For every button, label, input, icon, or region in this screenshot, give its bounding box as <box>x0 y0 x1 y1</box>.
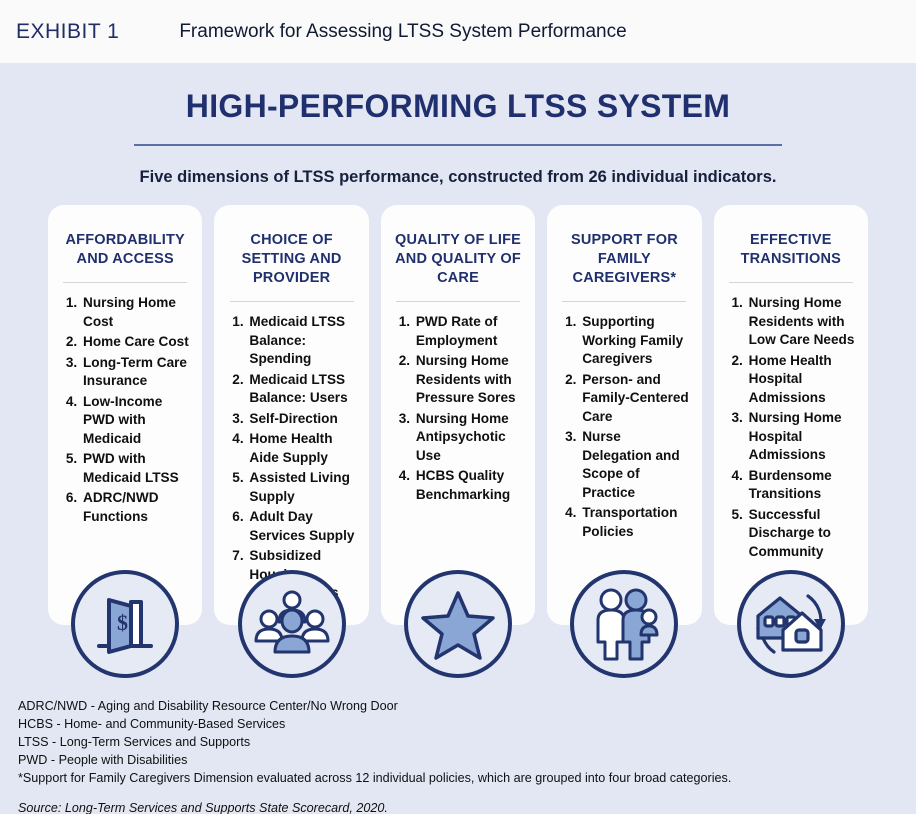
dimension-card-affordability-and-access: AFFORDABILITY AND ACCESS Nursing Home Co… <box>48 205 202 625</box>
door-with-dollar-sign-icon: $ <box>71 570 179 678</box>
list-item: Medicaid LTSS Balance: Spending <box>247 313 356 368</box>
card-title: QUALITY OF LIFE AND QUALITY OF CARE <box>393 231 523 288</box>
list-item: PWD Rate of Employment <box>414 313 523 350</box>
list-item: Self-Direction <box>247 410 356 428</box>
exhibit-label: EXHIBIT 1 <box>16 20 119 44</box>
icon-slot <box>214 570 368 678</box>
indicator-list: PWD Rate of Employment Nursing Home Resi… <box>393 313 523 504</box>
list-item: Low-Income PWD with Medicaid <box>81 393 190 448</box>
list-item: Home Health Hospital Admissions <box>747 352 856 407</box>
svg-text:$: $ <box>117 610 128 635</box>
exhibit-header: EXHIBIT 1 Framework for Assessing LTSS S… <box>0 0 916 63</box>
list-item: Nursing Home Residents with Low Care Nee… <box>747 294 856 349</box>
footnote-line: *Support for Family Caregivers Dimension… <box>18 770 888 788</box>
dimension-card-effective-transitions: EFFECTIVE TRANSITIONS Nursing Home Resid… <box>714 205 868 625</box>
house-transition-arrows-icon <box>737 570 845 678</box>
list-item: Adult Day Services Supply <box>247 508 356 545</box>
list-item: Transportation Policies <box>580 504 689 541</box>
dimension-icons: $ <box>48 570 868 678</box>
group-of-people-icon <box>238 570 346 678</box>
card-title: AFFORDABILITY AND ACCESS <box>60 231 190 269</box>
hero-subtitle: Five dimensions of LTSS performance, con… <box>0 168 916 187</box>
list-item: PWD with Medicaid LTSS <box>81 450 190 487</box>
list-item: Home Health Aide Supply <box>247 430 356 467</box>
card-divider <box>396 301 520 302</box>
dimension-cards: AFFORDABILITY AND ACCESS Nursing Home Co… <box>48 205 868 625</box>
list-item: Home Care Cost <box>81 333 190 351</box>
list-item: Nursing Home Residents with Pressure Sor… <box>414 352 523 407</box>
footnote-line: HCBS - Home- and Community-Based Service… <box>18 716 888 734</box>
dimension-card-choice-of-setting-and-provider: CHOICE OF SETTING AND PROVIDER Medicaid … <box>214 205 368 625</box>
page-title: HIGH-PERFORMING LTSS SYSTEM <box>0 88 916 125</box>
card-divider <box>729 282 853 283</box>
icon-slot <box>714 570 868 678</box>
card-title: SUPPORT FOR FAMILY CAREGIVERS* <box>559 231 689 288</box>
infographic-page: EXHIBIT 1 Framework for Assessing LTSS S… <box>0 0 916 814</box>
list-item: Nursing Home Cost <box>81 294 190 331</box>
list-item: Burdensome Transitions <box>747 467 856 504</box>
list-item: ADRC/NWD Functions <box>81 489 190 526</box>
hero-section: HIGH-PERFORMING LTSS SYSTEM Five dimensi… <box>0 63 916 187</box>
footnote-line: LTSS - Long-Term Services and Supports <box>18 734 888 752</box>
card-divider <box>562 301 686 302</box>
list-item: Person- and Family-Centered Care <box>580 371 689 426</box>
card-title: CHOICE OF SETTING AND PROVIDER <box>226 231 356 288</box>
hero-divider <box>134 144 782 146</box>
list-item: Long-Term Care Insurance <box>81 354 190 391</box>
indicator-list: Nursing Home Residents with Low Care Nee… <box>726 294 856 561</box>
list-item: Medicaid LTSS Balance: Users <box>247 371 356 408</box>
list-item: Nurse Delegation and Scope of Practice <box>580 428 689 502</box>
source-line: Source: Long-Term Services and Supports … <box>18 801 888 814</box>
caregiver-and-family-icon <box>570 570 678 678</box>
star-icon <box>404 570 512 678</box>
list-item: Supporting Working Family Caregivers <box>580 313 689 368</box>
dimension-card-support-for-family-caregivers: SUPPORT FOR FAMILY CAREGIVERS* Supportin… <box>547 205 701 625</box>
list-item: Nursing Home Antipsychotic Use <box>414 410 523 465</box>
indicator-list: Medicaid LTSS Balance: Spending Medicaid… <box>226 313 356 602</box>
footnote-line: PWD - People with Disabilities <box>18 752 888 770</box>
list-item: Nursing Home Hospital Admissions <box>747 409 856 464</box>
icon-slot: $ <box>48 570 202 678</box>
card-divider <box>230 301 354 302</box>
list-item: Assisted Living Supply <box>247 469 356 506</box>
card-title: EFFECTIVE TRANSITIONS <box>726 231 856 269</box>
icon-slot <box>381 570 535 678</box>
indicator-list: Nursing Home Cost Home Care Cost Long-Te… <box>60 294 190 526</box>
list-item: Successful Discharge to Community <box>747 506 856 561</box>
card-divider <box>63 282 187 283</box>
dimension-card-quality-of-life-and-quality-of-care: QUALITY OF LIFE AND QUALITY OF CARE PWD … <box>381 205 535 625</box>
indicator-list: Supporting Working Family Caregivers Per… <box>559 313 689 541</box>
icon-slot <box>547 570 701 678</box>
footnotes: ADRC/NWD - Aging and Disability Resource… <box>18 698 888 814</box>
exhibit-title: Framework for Assessing LTSS System Perf… <box>179 21 626 43</box>
list-item: HCBS Quality Benchmarking <box>414 467 523 504</box>
footnote-line: ADRC/NWD - Aging and Disability Resource… <box>18 698 888 716</box>
